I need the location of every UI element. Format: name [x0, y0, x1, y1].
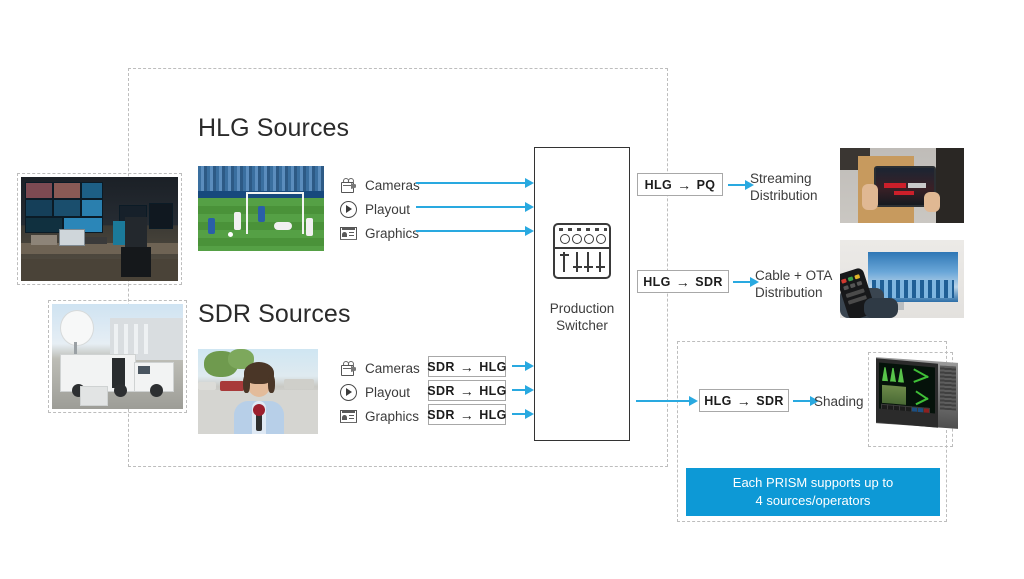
switcher-label-line1: Production: [534, 300, 630, 317]
production-switcher-box[interactable]: [534, 147, 630, 441]
cable-label-line2: Distribution: [755, 284, 832, 301]
playout-icon: [340, 384, 357, 401]
conversion-chip-hlg-sdr-shading[interactable]: HLG → SDR: [699, 389, 789, 412]
cable-label-line1: Cable + OTA: [755, 267, 832, 284]
chip-arrow: →: [676, 274, 690, 290]
sdr-sources-title: SDR Sources: [198, 300, 351, 329]
tablet-streaming-photo: [840, 148, 964, 223]
hlg-source-row-playout[interactable]: Playout: [340, 198, 425, 220]
sdr-source-label-cameras: Cameras: [365, 361, 425, 376]
switcher-label-line2: Switcher: [534, 317, 630, 334]
conversion-chip-hlg-pq[interactable]: HLG → PQ: [637, 173, 723, 196]
sdr-source-row-playout[interactable]: Playout: [340, 381, 425, 403]
mixer-console-icon: [553, 223, 611, 279]
graphics-icon: [340, 408, 357, 425]
cable-ota-distribution-label: Cable + OTA Distribution: [755, 267, 832, 301]
chip-arrow: →: [460, 359, 474, 375]
camera-icon: [340, 177, 357, 194]
chip-arrow: →: [737, 393, 751, 409]
chip-from: SDR: [427, 408, 455, 422]
chip-from: SDR: [427, 384, 455, 398]
chip-to: SDR: [695, 275, 723, 289]
chip-to: HLG: [479, 360, 507, 374]
chip-to: SDR: [756, 394, 784, 408]
chip-arrow: →: [460, 407, 474, 423]
satellite-truck-photo: [52, 304, 183, 409]
production-switcher-label: Production Switcher: [534, 300, 630, 334]
hlg-source-row-cameras[interactable]: Cameras: [340, 174, 425, 196]
conversion-chip-sdr-hlg-graphics[interactable]: SDR → HLG: [428, 404, 506, 425]
conversion-chip-sdr-hlg-cameras[interactable]: SDR → HLG: [428, 356, 506, 377]
arrow-hlg-playout-to-switcher: [416, 202, 534, 212]
hlg-sources-title: HLG Sources: [198, 114, 349, 143]
arrow-hlg-cameras-to-switcher: [416, 178, 534, 188]
prism-capacity-banner: Each PRISM supports up to 4 sources/oper…: [686, 468, 940, 516]
prism-monitor-photo: [872, 356, 958, 434]
arrow-sdr-playout-to-switcher: [512, 385, 534, 395]
soccer-match-photo: [198, 166, 324, 251]
banner-line2: 4 sources/operators: [733, 492, 893, 510]
chip-to: HLG: [479, 384, 507, 398]
chip-from: SDR: [427, 360, 455, 374]
playout-icon: [340, 201, 357, 218]
control-room-photo: [21, 177, 178, 281]
sdr-source-row-graphics[interactable]: Graphics: [340, 405, 425, 427]
streaming-label-line1: Streaming: [750, 170, 818, 187]
camera-icon: [340, 360, 357, 377]
arrow-hlg-graphics-to-switcher: [416, 226, 534, 236]
conversion-chip-hlg-sdr-cable[interactable]: HLG → SDR: [637, 270, 729, 293]
chip-to: PQ: [697, 178, 716, 192]
arrow-switcher-to-shading: [636, 396, 698, 406]
conversion-chip-sdr-hlg-playout[interactable]: SDR → HLG: [428, 380, 506, 401]
tv-remote-photo: [840, 240, 964, 318]
sdr-source-label-playout: Playout: [365, 385, 425, 400]
hlg-source-row-graphics[interactable]: Graphics: [340, 222, 425, 244]
chip-from: HLG: [643, 275, 671, 289]
streaming-distribution-label: Streaming Distribution: [750, 170, 818, 204]
banner-line1: Each PRISM supports up to: [733, 474, 893, 492]
chip-from: HLG: [704, 394, 732, 408]
chip-to: HLG: [479, 408, 507, 422]
streaming-label-line2: Distribution: [750, 187, 818, 204]
shading-label: Shading: [814, 393, 864, 410]
graphics-icon: [340, 225, 357, 242]
arrow-sdr-graphics-to-switcher: [512, 409, 534, 419]
chip-from: HLG: [645, 178, 673, 192]
sdr-source-label-graphics: Graphics: [365, 409, 425, 424]
arrow-sdr-cameras-to-switcher: [512, 361, 534, 371]
chip-arrow: →: [460, 383, 474, 399]
sdr-source-row-cameras[interactable]: Cameras: [340, 357, 425, 379]
chip-arrow: →: [677, 177, 691, 193]
reporter-photo: [198, 349, 318, 434]
